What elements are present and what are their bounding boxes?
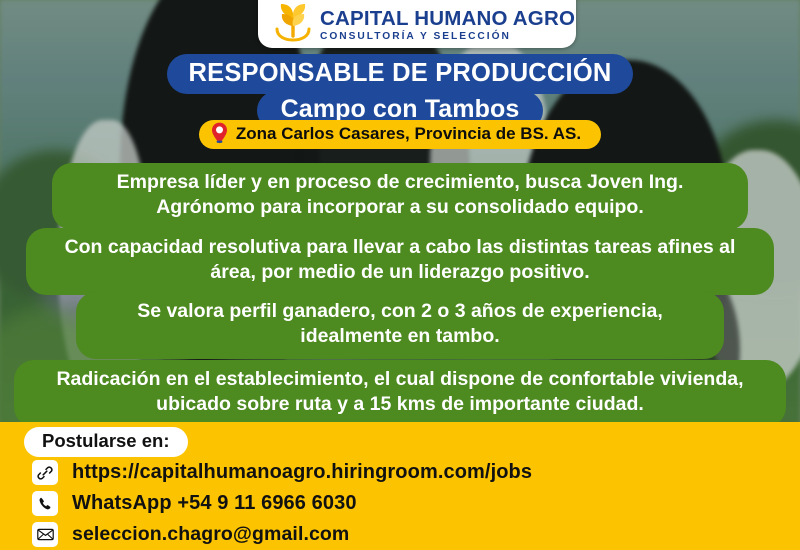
statement-bubble: Radicación en el establecimiento, el cua… [14, 360, 786, 427]
job-posting-poster: CAPITAL HUMANO AGRO CONSULTORÍA Y SELECC… [0, 0, 800, 550]
whatsapp-number[interactable]: WhatsApp +54 9 11 6966 6030 [72, 492, 357, 515]
apply-label: Postularse en: [24, 427, 188, 457]
link-icon [32, 460, 58, 485]
brand-tagline: CONSULTORÍA Y SELECCIÓN [320, 32, 575, 42]
statement-bubble: Empresa líder y en proceso de crecimient… [52, 163, 748, 230]
location-pill: Zona Carlos Casares, Provincia de BS. AS… [199, 120, 601, 149]
contact-row-website[interactable]: https://capitalhumanoagro.hiringroom.com… [32, 460, 532, 485]
brand-logo: CAPITAL HUMANO AGRO CONSULTORÍA Y SELECC… [258, 0, 576, 48]
website-url[interactable]: https://capitalhumanoagro.hiringroom.com… [72, 461, 532, 484]
statement-bubble: Con capacidad resolutiva para llevar a c… [26, 228, 774, 295]
contact-footer: Postularse en: https://capitalhumanoagro… [0, 422, 800, 550]
location-text: Zona Carlos Casares, Provincia de BS. AS… [236, 124, 581, 144]
job-title-primary: RESPONSABLE DE PRODUCCIÓN [167, 54, 634, 94]
contact-row-email[interactable]: seleccion.chagro@gmail.com [32, 522, 349, 547]
wheat-sprout-icon [270, 2, 316, 42]
envelope-icon [32, 522, 58, 547]
contact-row-whatsapp[interactable]: WhatsApp +54 9 11 6966 6030 [32, 491, 357, 516]
location-block: Zona Carlos Casares, Provincia de BS. AS… [0, 120, 800, 149]
phone-icon [32, 491, 58, 516]
job-title-block: RESPONSABLE DE PRODUCCIÓN Campo con Tamb… [0, 54, 800, 130]
statement-bubble: Se valora perfil ganadero, con 2 o 3 año… [76, 292, 724, 359]
brand-name: CAPITAL HUMANO AGRO [320, 9, 575, 30]
map-pin-icon [211, 122, 228, 144]
email-address[interactable]: seleccion.chagro@gmail.com [72, 523, 349, 546]
